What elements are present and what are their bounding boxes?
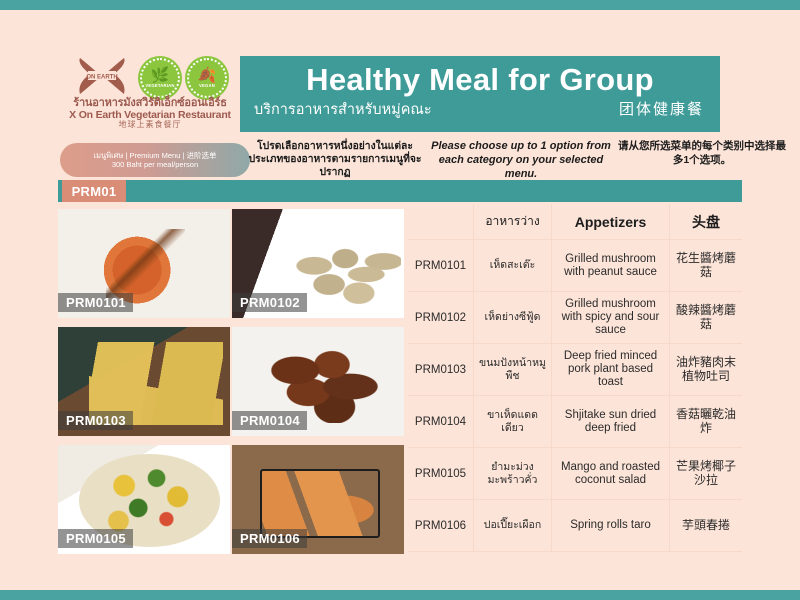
gallery-item-caption: PRM0102 (232, 293, 307, 312)
vegetarian-badge-icon: 🌿 VEGETARIAN (138, 56, 182, 100)
brand-names: ร้านอาหารมังสวิรัติเอ็กซ์ออนเอิร์ธ X On … (56, 98, 244, 129)
cell-code: PRM0106 (408, 500, 474, 552)
gallery-item[interactable]: PRM0102 (232, 209, 404, 318)
brand-name-en: X On Earth Vegetarian Restaurant (56, 110, 244, 121)
cell-th: เห็ดย่างซีฟู้ด (474, 292, 552, 344)
cell-th: ปอเปี๊ยะเผือก (474, 500, 552, 552)
gallery-item-caption: PRM0104 (232, 411, 307, 430)
cell-en: Shjitake sun dried deep fried (552, 396, 670, 448)
column-header-cn: 头盘 (670, 204, 742, 240)
cell-cn: 香菇曬乾油炸 (670, 396, 742, 448)
cell-th: ยำมะม่วงมะพร้าวคั่ว (474, 448, 552, 500)
cell-en: Mango and roasted coconut salad (552, 448, 670, 500)
page-title: Healthy Meal for Group (240, 64, 720, 97)
cell-cn: 芒果烤椰子沙拉 (670, 448, 742, 500)
gallery-item[interactable]: PRM0101 (58, 209, 230, 318)
gallery-item[interactable]: PRM0105 (58, 445, 230, 554)
cell-cn: 酸辣醬烤蘑菇 (670, 292, 742, 344)
gallery-item-caption: PRM0105 (58, 529, 133, 548)
column-header-code (408, 204, 474, 240)
cell-th: ขาเห็ดแดดเดียว (474, 396, 552, 448)
menu-table: อาหารว่าง Appetizers 头盘 PRM0101 เห็ดสะเต… (408, 204, 742, 554)
table-row[interactable]: PRM0101 เห็ดสะเต๊ะ Grilled mushroom with… (408, 240, 742, 292)
brand-block: ON EARTH 🌿 VEGETARIAN 🍂 VEGAN (62, 52, 242, 136)
cell-en: Grilled mushroom with peanut sauce (552, 240, 670, 292)
x-on-earth-logo-icon: ON EARTH (70, 54, 134, 98)
brand-marks: ON EARTH 🌿 VEGETARIAN 🍂 VEGAN (62, 52, 242, 100)
vegetarian-badge-label: VEGETARIAN (145, 84, 174, 88)
menu-table-header: อาหารว่าง Appetizers 头盘 (408, 204, 742, 240)
cell-th: เห็ดสะเต๊ะ (474, 240, 552, 292)
logo-wordmark: ON EARTH (86, 75, 117, 81)
table-row[interactable]: PRM0103 ขนมปังหน้าหมูพืช Deep fried minc… (408, 344, 742, 396)
premium-menu-label: เมนูพิเศษ | Premium Menu | 进阶选单 (94, 151, 217, 160)
leaf-glyph: 🌿 (151, 68, 170, 83)
leaf-glyph: 🍂 (198, 68, 217, 83)
cell-en: Grilled mushroom with spicy and sour sau… (552, 292, 670, 344)
cell-en: Spring rolls taro (552, 500, 670, 552)
cell-code: PRM0102 (408, 292, 474, 344)
tab-prm01[interactable]: PRM01 (62, 180, 126, 202)
instruction-en: Please choose up to 1 option from each c… (428, 140, 614, 181)
gallery-item-caption: PRM0101 (58, 293, 133, 312)
table-header-row: อาหารว่าง Appetizers 头盘 (408, 204, 742, 240)
menu-table-body: PRM0101 เห็ดสะเต๊ะ Grilled mushroom with… (408, 240, 742, 552)
brand-name-th: ร้านอาหารมังสวิรัติเอ็กซ์ออนเอิร์ธ (56, 98, 244, 110)
table-row[interactable]: PRM0106 ปอเปี๊ยะเผือก Spring rolls taro … (408, 500, 742, 552)
premium-menu-price: 300 Baht per meal/person (112, 160, 198, 169)
tab-prm01-label: PRM01 (72, 184, 117, 199)
table-row[interactable]: PRM0105 ยำมะม่วงมะพร้าวคั่ว Mango and ro… (408, 448, 742, 500)
cell-cn: 芋頭春捲 (670, 500, 742, 552)
cell-code: PRM0103 (408, 344, 474, 396)
instruction-th: โปรดเลือกอาหารหนึ่งอย่างในแต่ละประเภทของ… (243, 140, 427, 180)
cell-cn: 花生醬烤蘑菇 (670, 240, 742, 292)
table-row[interactable]: PRM0104 ขาเห็ดแดดเดียว Shjitake sun drie… (408, 396, 742, 448)
title-banner: Healthy Meal for Group บริการอาหารสำหรับ… (240, 56, 720, 132)
gallery-item[interactable]: PRM0103 (58, 327, 230, 436)
vegan-badge-label: VEGAN (199, 84, 215, 88)
bottom-accent-band (0, 590, 800, 600)
top-accent-band (0, 0, 800, 10)
cell-code: PRM0105 (408, 448, 474, 500)
column-header-th: อาหารว่าง (474, 204, 552, 240)
cell-code: PRM0104 (408, 396, 474, 448)
gallery-item-caption: PRM0106 (232, 529, 307, 548)
cell-th: ขนมปังหน้าหมูพืช (474, 344, 552, 396)
tab-strip (58, 180, 742, 202)
gallery-item[interactable]: PRM0104 (232, 327, 404, 436)
cell-code: PRM0101 (408, 240, 474, 292)
cell-cn: 油炸豬肉末植物吐司 (670, 344, 742, 396)
brand-name-cn: 地球上素食餐厅 (56, 121, 244, 130)
gallery-item-caption: PRM0103 (58, 411, 133, 430)
page-title-th: บริการอาหารสำหรับหมู่คณะ (254, 103, 432, 119)
instruction-cn: 请从您所选菜单的每个类别中选择最多1个选项。 (614, 140, 790, 167)
vegan-badge-icon: 🍂 VEGAN (185, 56, 229, 100)
gallery-item[interactable]: PRM0106 (232, 445, 404, 554)
cell-en: Deep fried minced pork plant based toast (552, 344, 670, 396)
premium-menu-badge: เมนูพิเศษ | Premium Menu | 进阶选单 300 Baht… (60, 143, 250, 177)
table-row[interactable]: PRM0102 เห็ดย่างซีฟู้ด Grilled mushroom … (408, 292, 742, 344)
dish-gallery: PRM0101 PRM0102 PRM0103 PRM0104 PRM0105 … (58, 209, 404, 554)
page-title-cn: 团体健康餐 (619, 102, 704, 119)
certification-badges: 🌿 VEGETARIAN 🍂 VEGAN (138, 56, 229, 100)
poster-root: ON EARTH 🌿 VEGETARIAN 🍂 VEGAN (0, 0, 800, 600)
column-header-en: Appetizers (552, 204, 670, 240)
